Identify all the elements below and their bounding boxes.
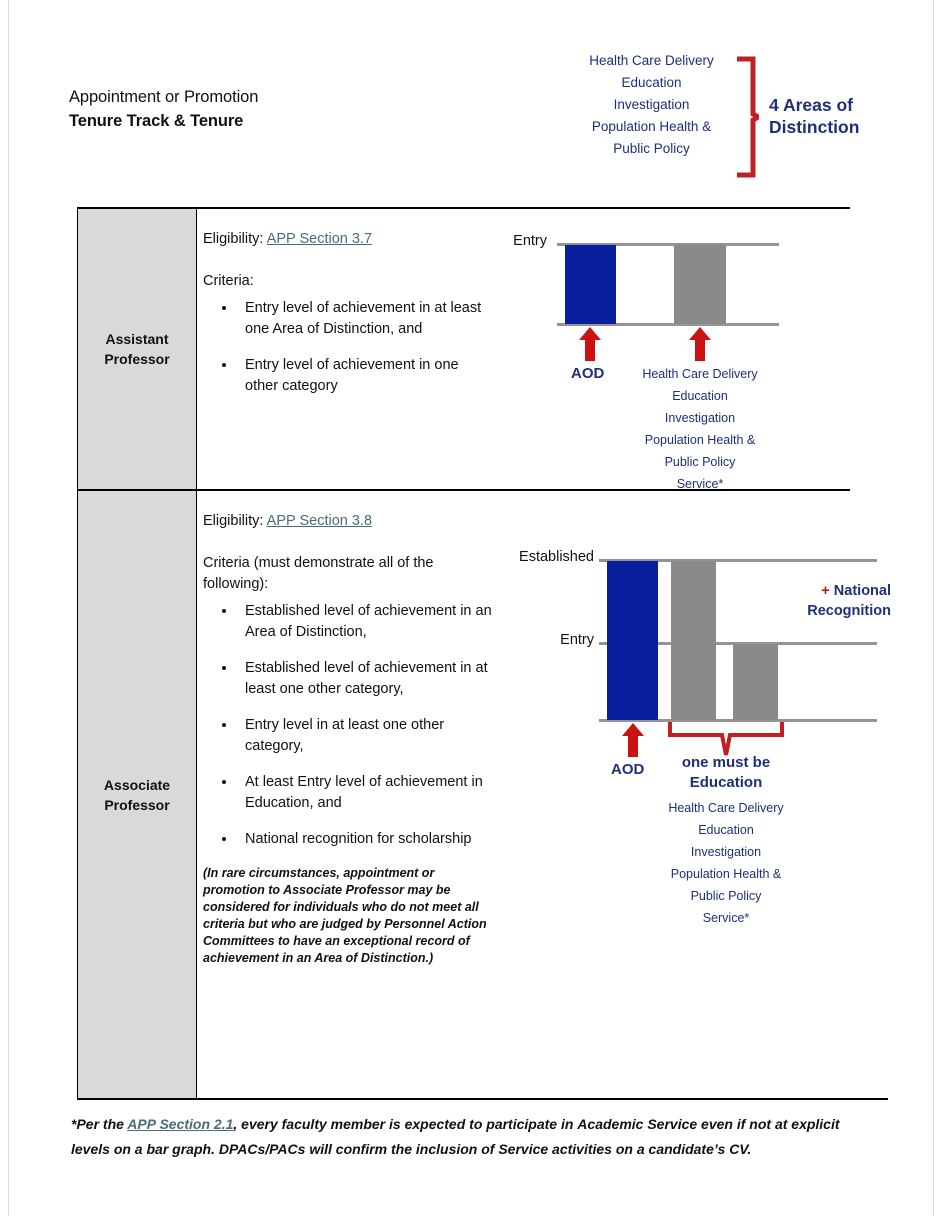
assistant-criteria-block: Eligibility: APP Section 3.7 Criteria: E…	[203, 229, 493, 412]
associate-criteria-block: Eligibility: APP Section 3.8 Criteria (m…	[203, 511, 493, 967]
edu-note-line2: Education	[641, 773, 811, 793]
footnote-bold: Academic Service	[577, 1116, 697, 1132]
eligibility-label: Eligibility:	[203, 231, 263, 247]
category-item: Population Health &	[631, 863, 821, 885]
table-bottom-border	[77, 1098, 888, 1100]
axis-label-entry: Entry	[467, 233, 547, 249]
category-item: Population Health &	[605, 429, 795, 451]
plus-icon: +	[821, 583, 829, 599]
bar-aod	[607, 561, 658, 720]
eligibility-link-app-3-8[interactable]: APP Section 3.8	[267, 513, 372, 529]
table-row-content-associate: Eligibility: APP Section 3.8 Criteria (m…	[199, 491, 850, 1098]
arrow-up-icon	[689, 327, 711, 361]
list-item: Established level of achievement in an A…	[237, 601, 493, 643]
assistant-criteria-heading: Criteria:	[203, 271, 493, 292]
rank-label: Associate Professor	[78, 775, 196, 815]
aod-tag: AOD	[571, 365, 604, 382]
aod-tag: AOD	[611, 761, 644, 778]
aod-legend-item: Education	[569, 72, 734, 94]
eligibility-label: Eligibility:	[203, 513, 263, 529]
assistant-criteria-list: Entry level of achievement in at least o…	[203, 298, 493, 397]
one-must-be-education-note: one must be Education	[641, 753, 811, 793]
associate-criteria-list: Established level of achievement in an A…	[203, 601, 493, 850]
associate-category-list: Health Care Delivery Education Investiga…	[631, 797, 821, 929]
right-brace-icon	[737, 56, 759, 178]
edu-note-line1: one must be	[641, 753, 811, 773]
associate-criteria-heading: Criteria (must demonstrate all of the fo…	[203, 553, 493, 595]
category-item: Investigation	[631, 841, 821, 863]
associate-bar-chart: Established Entry AOD one must be Educat…	[499, 539, 849, 939]
associate-rare-circumstances-note: (In rare circumstances, appointment or p…	[203, 865, 488, 967]
assistant-bar-chart: Entry AOD Health Care Delivery Education…	[509, 227, 849, 497]
list-item: National recognition for scholarship	[237, 829, 493, 850]
category-item: Health Care Delivery	[605, 363, 795, 385]
axis-label-entry: Entry	[489, 632, 594, 648]
assistant-category-list: Health Care Delivery Education Investiga…	[605, 363, 795, 495]
eligibility-link-app-3-7[interactable]: APP Section 3.7	[267, 231, 372, 247]
rank-label: Assistant Professor	[78, 329, 196, 369]
list-item: Established level of achievement in at l…	[237, 658, 493, 700]
national-recognition-line1: National	[834, 583, 891, 599]
aod-legend-item: Health Care Delivery	[569, 50, 734, 72]
bar-other-category	[674, 245, 726, 324]
category-item: Public Policy	[631, 885, 821, 907]
assistant-eligibility: Eligibility: APP Section 3.7	[203, 229, 493, 249]
page-title: Appointment or Promotion Tenure Track & …	[69, 85, 258, 133]
table-row-content-assistant: Eligibility: APP Section 3.7 Criteria: E…	[199, 209, 850, 489]
arrow-up-icon	[622, 723, 644, 757]
category-item: Investigation	[605, 407, 795, 429]
aod-legend-items: Health Care Delivery Education Investiga…	[569, 50, 734, 160]
table-row-rank-associate: Associate Professor	[77, 491, 197, 1098]
list-item: Entry level in at least one other catego…	[237, 715, 493, 757]
table-row-rank-assistant: Assistant Professor	[77, 209, 197, 489]
arrow-up-icon	[579, 327, 601, 361]
axis-label-established: Established	[489, 549, 594, 565]
footnote: *Per the APP Section 2.1, every faculty …	[71, 1112, 881, 1162]
areas-of-distinction-legend: Health Care Delivery Education Investiga…	[569, 50, 909, 185]
national-recognition-note: + National Recognition	[761, 581, 891, 621]
category-item: Public Policy	[605, 451, 795, 473]
list-item: Entry level of achievement in at least o…	[237, 298, 493, 340]
page-title-line1: Appointment or Promotion	[69, 85, 258, 109]
list-item: Entry level of achievement in one other …	[237, 355, 493, 397]
bar-other-category-established	[671, 561, 716, 720]
national-recognition-line2: Recognition	[761, 601, 891, 621]
document-page: Appointment or Promotion Tenure Track & …	[8, 0, 934, 1216]
category-item: Health Care Delivery	[631, 797, 821, 819]
aod-legend-item: Public Policy	[569, 138, 734, 160]
footnote-link-app-2-1[interactable]: APP Section 2.1	[127, 1116, 233, 1132]
list-item: At least Entry level of achievement in E…	[237, 772, 493, 814]
aod-legend-item: Population Health &	[569, 116, 734, 138]
bar-other-category-entry	[733, 644, 778, 720]
footnote-pre: Per the	[76, 1116, 127, 1132]
aod-legend-title: 4 Areas of Distinction	[769, 94, 909, 138]
category-item: Education	[605, 385, 795, 407]
aod-legend-item: Investigation	[569, 94, 734, 116]
category-item: Education	[631, 819, 821, 841]
associate-eligibility: Eligibility: APP Section 3.8	[203, 511, 493, 531]
page-title-line2: Tenure Track & Tenure	[69, 109, 258, 133]
category-item: Service*	[631, 907, 821, 929]
footnote-mid: , every faculty member is expected to pa…	[233, 1116, 577, 1132]
bar-aod	[565, 245, 616, 324]
